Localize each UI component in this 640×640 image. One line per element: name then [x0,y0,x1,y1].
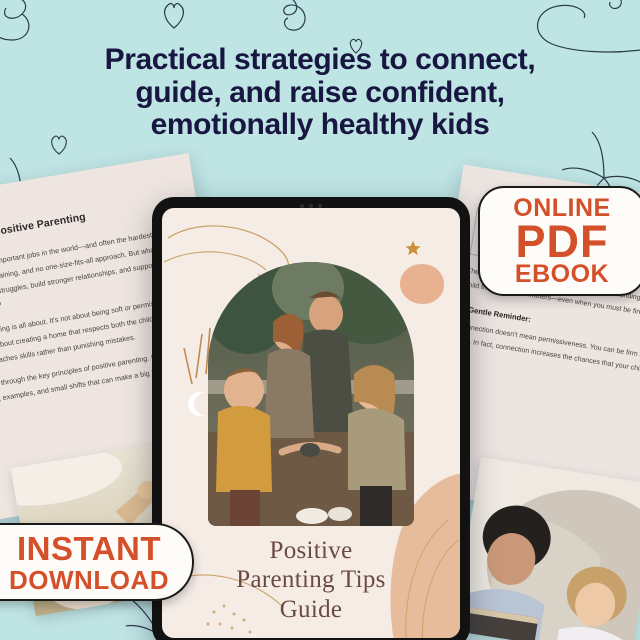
badge-line-pdf: PDF [516,219,609,264]
tablet-device-mockup: Positive Parenting Tips Guide [152,197,470,640]
badge-line-instant: INSTANT [17,532,161,565]
photo-artwork [208,262,414,526]
heart-doodle-top-icon [160,0,188,34]
tablet-screen: Positive Parenting Tips Guide [162,208,460,638]
star-icon [404,240,422,258]
page-headline: Practical strategies to connect, guide, … [0,44,640,142]
ebook-cover-title: Positive Parenting Tips Guide [162,536,460,625]
badge-line-ebook: EBOOK [515,262,609,287]
cover-photo-family [208,262,414,526]
crescent-moon-icon [184,390,212,418]
product-mockup-canvas: Practical strategies to connect, guide, … [0,0,640,640]
online-pdf-ebook-badge: ONLINE PDF EBOOK [478,186,640,296]
badge-line-download: DOWNLOAD [9,567,169,593]
peach-circle-decoration [400,264,444,304]
instant-download-badge: INSTANT DOWNLOAD [0,523,194,601]
photo-parent-and-child-playing [453,457,640,640]
photo-artwork [453,457,640,640]
